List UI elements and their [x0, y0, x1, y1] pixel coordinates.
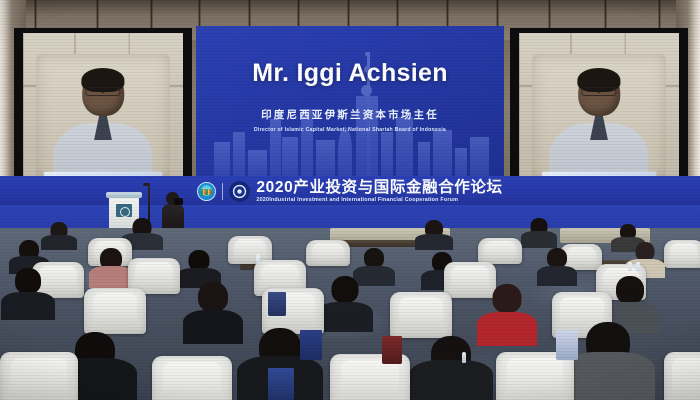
camera-icon — [174, 198, 183, 205]
tote-bag — [382, 336, 402, 364]
podium-emblem-icon — [116, 204, 132, 217]
tote-bag — [268, 292, 286, 316]
list-item — [0, 268, 56, 320]
water-bottle — [628, 262, 632, 271]
banner-divider — [222, 183, 223, 200]
list-item — [536, 248, 578, 286]
chair — [664, 352, 700, 400]
chair — [478, 238, 522, 264]
chair — [390, 292, 452, 338]
wreath-emblem-icon — [229, 181, 250, 202]
list-item — [520, 218, 558, 248]
tote-bag — [300, 330, 322, 360]
water-bottle — [462, 352, 466, 363]
water-bottle — [256, 254, 260, 263]
chair — [306, 240, 350, 266]
tote-bag — [556, 330, 578, 360]
chair — [0, 352, 78, 400]
chair — [84, 288, 146, 334]
list-item — [316, 276, 374, 332]
speaker-title-chinese: 印度尼西亚伊斯兰资本市场主任 — [196, 107, 504, 122]
conference-hall-scene: Mr. Iggi Achsien 印度尼西亚伊斯兰资本市场主任 Director… — [0, 0, 700, 400]
chair — [152, 356, 232, 400]
banner-title-english: 2020Industrial Investment and Internatio… — [256, 197, 502, 203]
speaker-name-title: Mr. Iggi Achsien — [196, 59, 504, 88]
list-item — [408, 336, 494, 400]
center-display-screen: Mr. Iggi Achsien 印度尼西亚伊斯兰资本市场主任 Director… — [196, 26, 504, 176]
tote-bag — [268, 368, 294, 400]
forum-banner: 2020产业投资与国际金融合作论坛 2020Industrial Investm… — [0, 176, 700, 207]
list-item — [182, 282, 244, 344]
chair — [664, 240, 700, 268]
globe-logo-icon — [197, 182, 216, 201]
list-item — [414, 220, 454, 250]
banner-title-chinese: 2020产业投资与国际金融合作论坛 — [256, 180, 502, 196]
water-bottle — [636, 262, 640, 271]
speaker-title-english: Director of Islamic Capital Market, Nati… — [196, 127, 504, 133]
